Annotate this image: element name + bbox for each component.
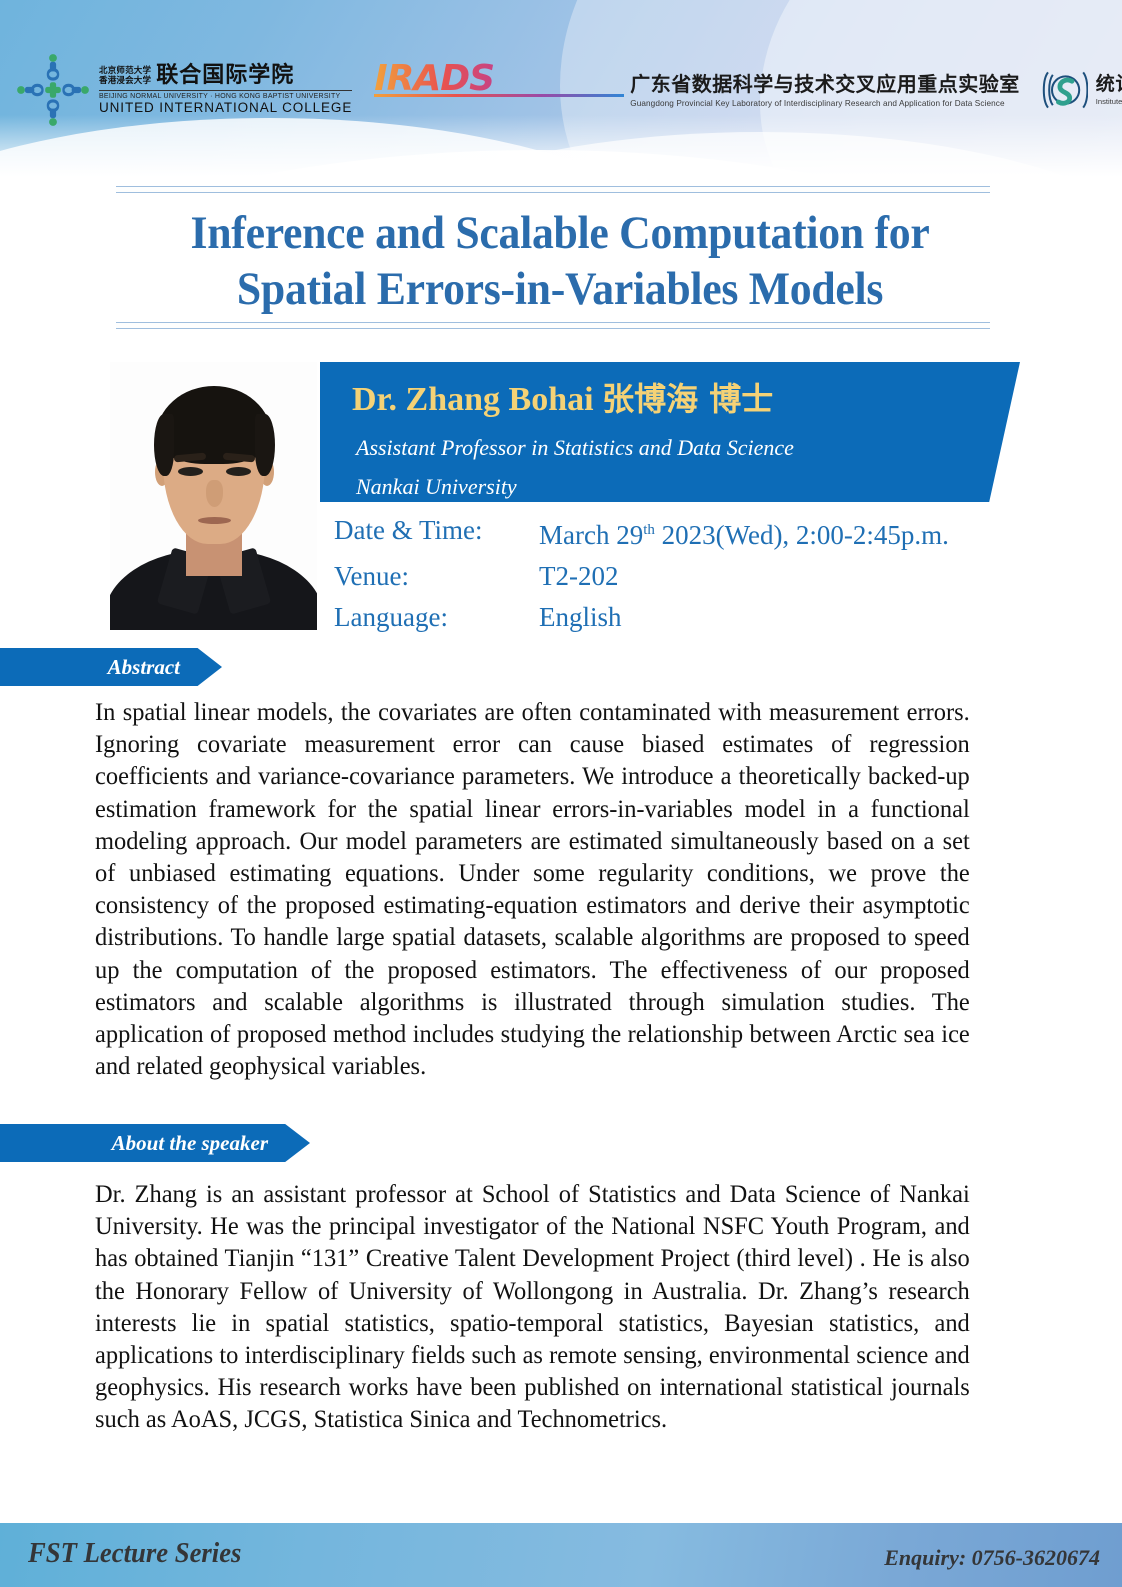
uic-cn-line1: 北京师范大学: [99, 66, 151, 76]
footer-enquiry: Enquiry: 0756-3620674: [884, 1545, 1100, 1571]
detail-value: March 29th 2023(Wed), 2:00-2:45p.m.: [539, 510, 949, 556]
speaker-photo: [110, 362, 317, 630]
speaker-name-cn: 张博海 博士: [602, 380, 773, 418]
footer-series-label: FST Lecture Series: [28, 1537, 241, 1570]
detail-value: T2-202: [539, 556, 949, 597]
detail-row-venue: Venue: T2-202: [334, 556, 949, 597]
speaker-role: Assistant Professor in Statistics and Da…: [356, 433, 794, 463]
poster-footer: FST Lecture Series Enquiry: 0756-3620674: [0, 1523, 1122, 1587]
isci-logo: 统计与计算智能研究所 Institute of Statistics and C…: [1040, 66, 1122, 114]
detail-label: Language:: [334, 597, 539, 638]
title-rule-top: [116, 186, 990, 193]
isci-en-name: Institute of Statistics and Computationa…: [1096, 97, 1122, 106]
uic-cn-name: 联合国际学院: [156, 64, 294, 88]
detail-value: English: [539, 597, 949, 638]
detail-value-sup: th: [643, 522, 655, 538]
gdkl-logo: 广东省数据科学与技术交叉应用重点实验室 Guangdong Provincial…: [630, 72, 1020, 108]
abstract-tab: Abstract: [0, 648, 222, 686]
speaker-tab: About the speaker: [0, 1124, 310, 1162]
speaker-name-en: Dr. Zhang Bohai: [352, 381, 594, 418]
isci-emblem-icon: [1040, 66, 1088, 114]
detail-row-language: Language: English: [334, 597, 949, 638]
logo-bar: 北京师范大学 香港浸会大学 联合国际学院 BEIJING NORMAL UNIV…: [0, 42, 1122, 137]
uic-en-line1: BEIJING NORMAL UNIVERSITY · HONG KONG BA…: [99, 90, 352, 100]
uic-en-line2: UNITED INTERNATIONAL COLLEGE: [99, 100, 352, 115]
detail-label: Date & Time:: [334, 510, 539, 556]
uic-cn-line2: 香港浸会大学: [99, 76, 151, 86]
event-details: Date & Time: March 29th 2023(Wed), 2:00-…: [334, 510, 949, 638]
gdkl-en-name: Guangdong Provincial Key Laboratory of I…: [630, 99, 1020, 108]
uic-logo: 北京师范大学 香港浸会大学 联合国际学院 BEIJING NORMAL UNIV…: [14, 51, 352, 129]
uic-emblem-icon: [14, 51, 92, 129]
title-line-1: Inference and Scalable Computation for: [95, 205, 1025, 261]
speaker-tab-label: About the speaker: [112, 1131, 268, 1156]
detail-row-datetime: Date & Time: March 29th 2023(Wed), 2:00-…: [334, 510, 949, 556]
abstract-tab-label: Abstract: [108, 655, 180, 680]
irads-logo: IRADS: [374, 60, 624, 119]
speaker-bio-body: Dr. Zhang is an assistant professor at S…: [95, 1178, 970, 1436]
gdkl-cn-name: 广东省数据科学与技术交叉应用重点实验室: [630, 72, 1020, 96]
title-line-2: Spatial Errors-in-Variables Models: [95, 261, 1025, 317]
speaker-name: Dr. Zhang Bohai 张博海 博士: [352, 379, 773, 420]
abstract-body: In spatial linear models, the covariates…: [95, 696, 970, 1082]
isci-cn-name: 统计与计算智能研究所: [1096, 73, 1122, 95]
page-title: Inference and Scalable Computation for S…: [95, 205, 1025, 317]
detail-value-pre: March 29: [539, 520, 643, 550]
irads-wordmark: IRADS: [374, 60, 624, 98]
speaker-organization: Nankai University: [356, 472, 517, 502]
detail-label: Venue:: [334, 556, 539, 597]
title-rule-bottom: [116, 322, 990, 329]
detail-value-post: 2023(Wed), 2:00-2:45p.m.: [655, 520, 949, 550]
